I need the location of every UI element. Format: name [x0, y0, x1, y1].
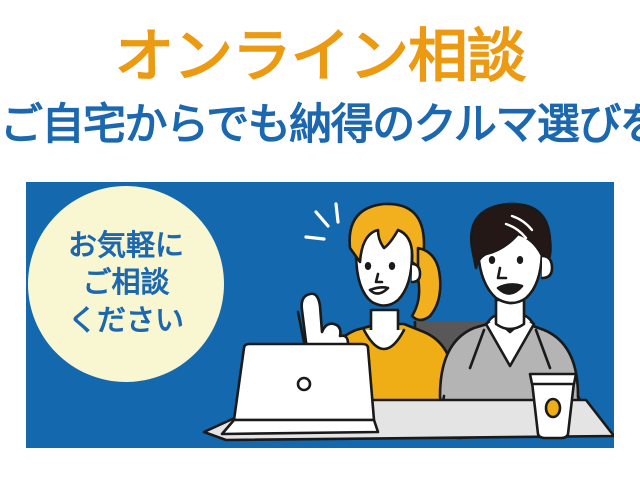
cup-logo-icon — [546, 399, 560, 417]
cup-lid-icon — [530, 374, 576, 384]
laptop-base — [222, 420, 378, 434]
laptop-logo-icon — [298, 378, 310, 390]
sparkle-icon — [306, 204, 338, 239]
banner-root: オンライン相談 ご自宅からでも納得のクルマ選びを — [0, 0, 640, 480]
illustration-panel: お気軽に ご相談 ください — [26, 182, 614, 448]
bubble-line-2: ご相談 — [82, 265, 169, 302]
page-subtitle: ご自宅からでも納得のクルマ選びを — [0, 104, 640, 147]
coffee-cup — [530, 374, 576, 438]
page-title: オンライン相談 — [0, 28, 640, 86]
bubble-line-3: ください — [68, 303, 184, 340]
bubble-line-1: お気軽に — [68, 228, 184, 265]
headline-block: オンライン相談 ご自宅からでも納得のクルマ選びを — [0, 0, 640, 182]
laptop — [222, 344, 378, 434]
speech-bubble-text: お気軽に ご相談 ください — [28, 186, 224, 382]
